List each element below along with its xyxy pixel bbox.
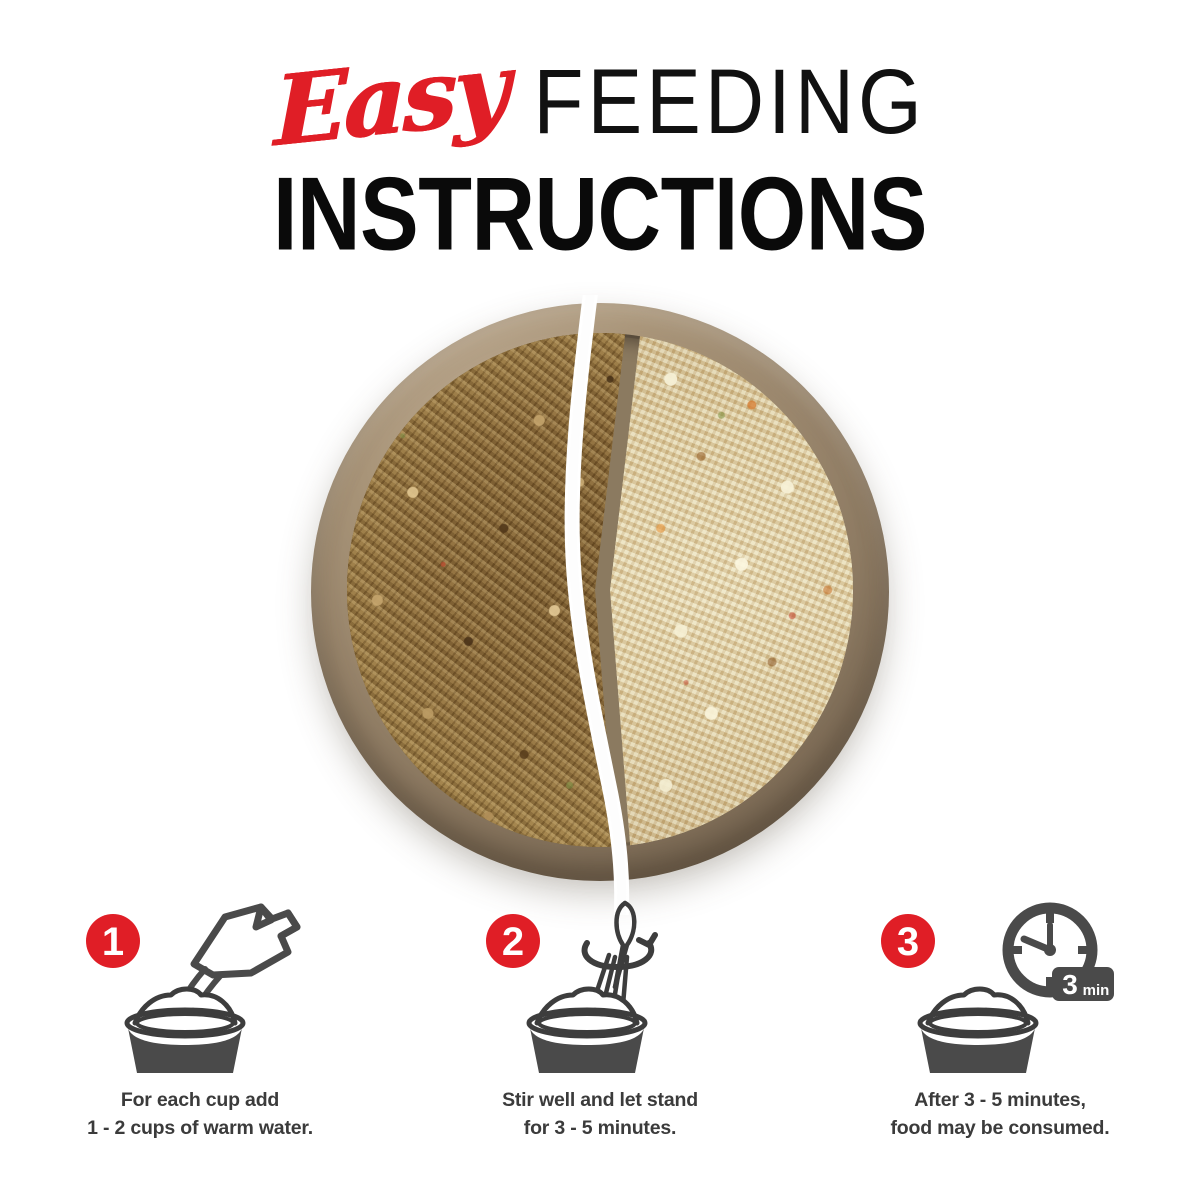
step-1: 1 <box>0 895 400 1143</box>
bowl-interior <box>347 333 853 847</box>
title-line-1: Easy FEEDING <box>0 48 1200 158</box>
step-1-caption-line-2: 1 - 2 cups of warm water. <box>0 1114 400 1142</box>
step-3-caption-line-1: After 3 - 5 minutes, <box>800 1086 1200 1114</box>
instructions-word: INSTRUCTIONS <box>0 162 1200 266</box>
step-3-caption-line-2: food may be consumed. <box>800 1114 1200 1142</box>
step-2-number: 2 <box>502 920 524 964</box>
step-1-number: 1 <box>102 920 124 964</box>
easy-script-word: Easy <box>275 40 507 161</box>
step-2-artwork: 2 <box>400 895 800 1080</box>
step-3: 3 3 <box>800 895 1200 1143</box>
step-2-caption-line-1: Stir well and let stand <box>400 1086 800 1114</box>
step-3-number: 3 <box>897 920 919 964</box>
food-bowl-icon <box>127 989 243 1073</box>
step-1-artwork: 1 <box>0 895 400 1080</box>
step-1-caption: For each cup add 1 - 2 cups of warm wate… <box>0 1086 400 1143</box>
timer-unit: min <box>1083 982 1110 999</box>
step-3-caption: After 3 - 5 minutes, food may be consume… <box>800 1086 1200 1143</box>
step-3-badge: 3 <box>881 914 935 968</box>
step-2-badge: 2 <box>486 914 540 968</box>
step-1-caption-line-1: For each cup add <box>0 1086 400 1114</box>
page-header: Easy FEEDING INSTRUCTIONS <box>0 48 1200 258</box>
timer-badge: 3 min <box>1052 967 1114 1001</box>
feeding-instructions-infographic: Easy FEEDING INSTRUCTIONS <box>0 0 1200 1200</box>
step-2-caption: Stir well and let stand for 3 - 5 minute… <box>400 1086 800 1143</box>
bowl-rim <box>311 303 889 881</box>
step-3-artwork: 3 3 <box>800 895 1200 1080</box>
timer-value: 3 <box>1062 969 1078 1000</box>
step-2-caption-line-2: for 3 - 5 minutes. <box>400 1114 800 1142</box>
food-bowl-icon <box>920 989 1036 1073</box>
step-2: 2 <box>400 895 800 1143</box>
feeding-word: FEEDING <box>533 57 925 149</box>
split-bowl-photo <box>311 303 889 881</box>
step-1-badge: 1 <box>86 914 140 968</box>
pitcher-icon <box>194 907 297 975</box>
steps-row: 1 <box>0 895 1200 1143</box>
food-bowl-icon <box>529 989 645 1073</box>
